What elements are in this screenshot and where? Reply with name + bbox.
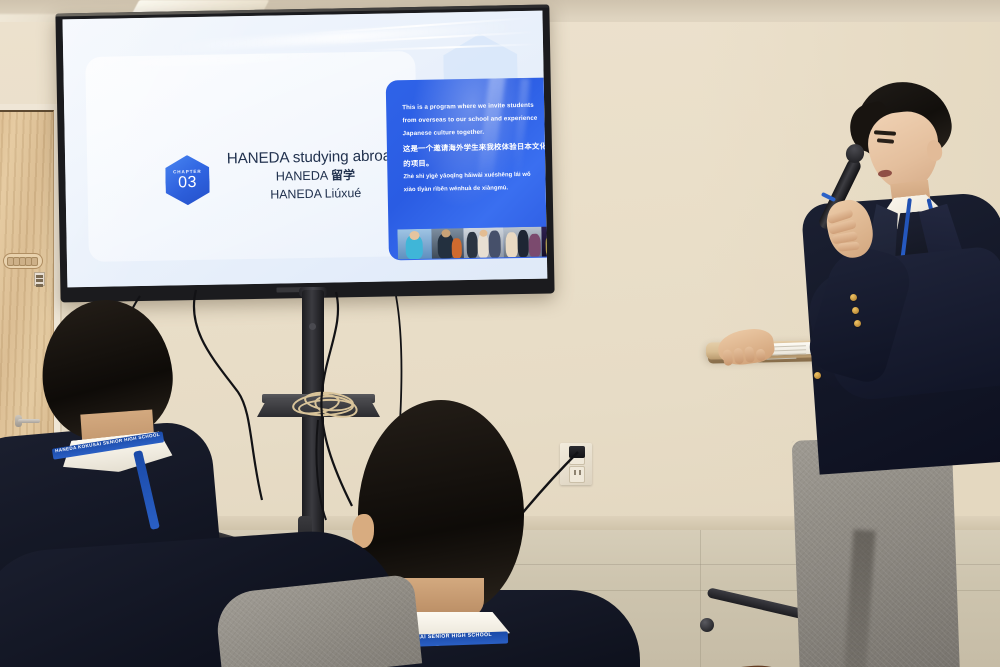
body-pinyin-line-1: Zhè shì yīgè yāoqǐng hǎiwài xuéshēng lái… [403, 168, 547, 184]
slide-body-text: This is a program where we invite studen… [402, 99, 547, 196]
slide-title-japanese-prefix: HANEDA [276, 169, 328, 184]
presentation-room-photo: CHAPTER 03 HANEDA studying abroad HANEDA… [0, 0, 1000, 667]
body-pinyin-line-2: xiào tǐyàn rìběn wénhuà de xiàngmù. [404, 181, 548, 197]
photo-thumbnail [463, 227, 504, 258]
slide-photo-strip [397, 226, 547, 259]
presenter-hand-on-podium [716, 326, 776, 367]
slide-title-group: HANEDA studying abroad HANEDA 留学 HANEDA … [215, 147, 416, 205]
slide-title-pinyin: HANEDA Liúxué [216, 184, 416, 205]
photo-thumbnail [503, 227, 542, 258]
door-sign [34, 272, 45, 286]
wave-decoration-icon-2 [325, 31, 535, 44]
photo-thumbnail [431, 228, 464, 259]
photo-thumbnail [397, 229, 432, 260]
slide-blue-panel: This is a program where we invite studen… [386, 77, 548, 261]
chapter-label: CHAPTER [173, 169, 202, 175]
wave-decoration-icon-3 [363, 43, 538, 51]
presentation-slide: CHAPTER 03 HANEDA studying abroad HANEDA… [63, 11, 548, 288]
tv-stand-adjust-knob[interactable] [309, 323, 316, 330]
slide-title-japanese-kanji: 留学 [331, 169, 355, 183]
door-keypad-lock-icon[interactable] [3, 253, 43, 269]
body-cn-line-1: 这是一个邀请海外学生来我校体验日本文化 [403, 138, 548, 157]
tv-screen: CHAPTER 03 HANEDA studying abroad HANEDA… [63, 11, 548, 288]
presenter-student [700, 78, 1000, 638]
body-en-line-2: from overseas to our school and experien… [402, 112, 547, 128]
photo-thumbnail [541, 226, 547, 257]
chapter-number: 03 [178, 175, 197, 191]
wall-display: CHAPTER 03 HANEDA studying abroad HANEDA… [55, 4, 554, 302]
